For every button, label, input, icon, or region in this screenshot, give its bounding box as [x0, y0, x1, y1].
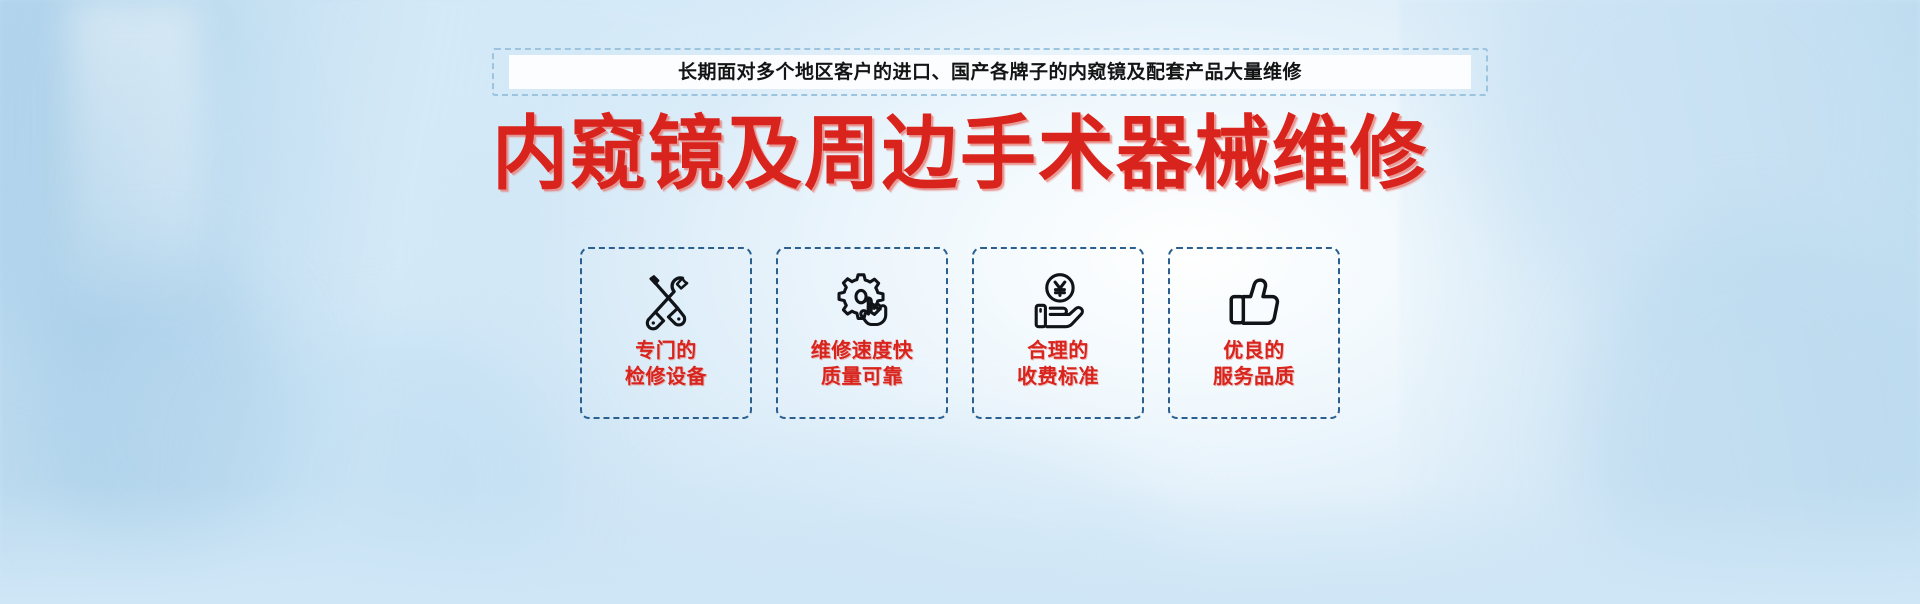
feature-card-label-line2: 服务品质 — [1213, 365, 1295, 391]
feature-card-label: 专门的 检修设备 — [625, 339, 707, 390]
banner-content: 长期面对多个地区客户的进口、国产各牌子的内窥镜及配套产品大量维修 内窥镜及周边手… — [0, 0, 1920, 604]
feature-card-label-line1: 合理的 — [1027, 340, 1089, 362]
feature-card-label-line1: 专门的 — [635, 340, 697, 362]
tools-screwdriver-wrench-icon — [630, 267, 702, 333]
feature-card-label-line2: 检修设备 — [625, 365, 707, 391]
feature-card-label-line1: 优良的 — [1223, 340, 1285, 362]
tagline-inner-box: 长期面对多个地区客户的进口、国产各牌子的内窥镜及配套产品大量维修 — [509, 55, 1471, 89]
feature-card-label: 合理的 收费标准 — [1017, 339, 1099, 390]
feature-card-label-line1: 维修速度快 — [811, 340, 914, 362]
feature-card-reasonable-pricing[interactable]: 合理的 收费标准 — [972, 247, 1144, 419]
thumbs-up-icon — [1218, 267, 1290, 333]
banner-stage: 长期面对多个地区客户的进口、国产各牌子的内窥镜及配套产品大量维修 内窥镜及周边手… — [0, 0, 1920, 604]
headline-container: 内窥镜及周边手术器械维修 — [0, 110, 1920, 200]
feature-card-label: 优良的 服务品质 — [1213, 339, 1295, 390]
hand-money-yen-icon — [1022, 267, 1094, 333]
tagline-dashed-frame: 长期面对多个地区客户的进口、国产各牌子的内窥镜及配套产品大量维修 — [492, 48, 1488, 96]
feature-card-specialized-equipment[interactable]: 专门的 检修设备 — [580, 247, 752, 419]
feature-card-label-line2: 收费标准 — [1017, 365, 1099, 391]
tagline-text: 长期面对多个地区客户的进口、国产各牌子的内窥镜及配套产品大量维修 — [678, 63, 1302, 82]
feature-card-label: 维修速度快 质量可靠 — [811, 339, 914, 390]
feature-card-fast-reliable[interactable]: 维修速度快 质量可靠 — [776, 247, 948, 419]
page-title: 内窥镜及周边手术器械维修 — [492, 115, 1428, 196]
feature-card-list: 专门的 检修设备 — [0, 247, 1920, 419]
feature-card-service-quality[interactable]: 优良的 服务品质 — [1168, 247, 1340, 419]
feature-card-label-line2: 质量可靠 — [811, 365, 914, 391]
gear-hand-click-icon — [826, 267, 898, 333]
